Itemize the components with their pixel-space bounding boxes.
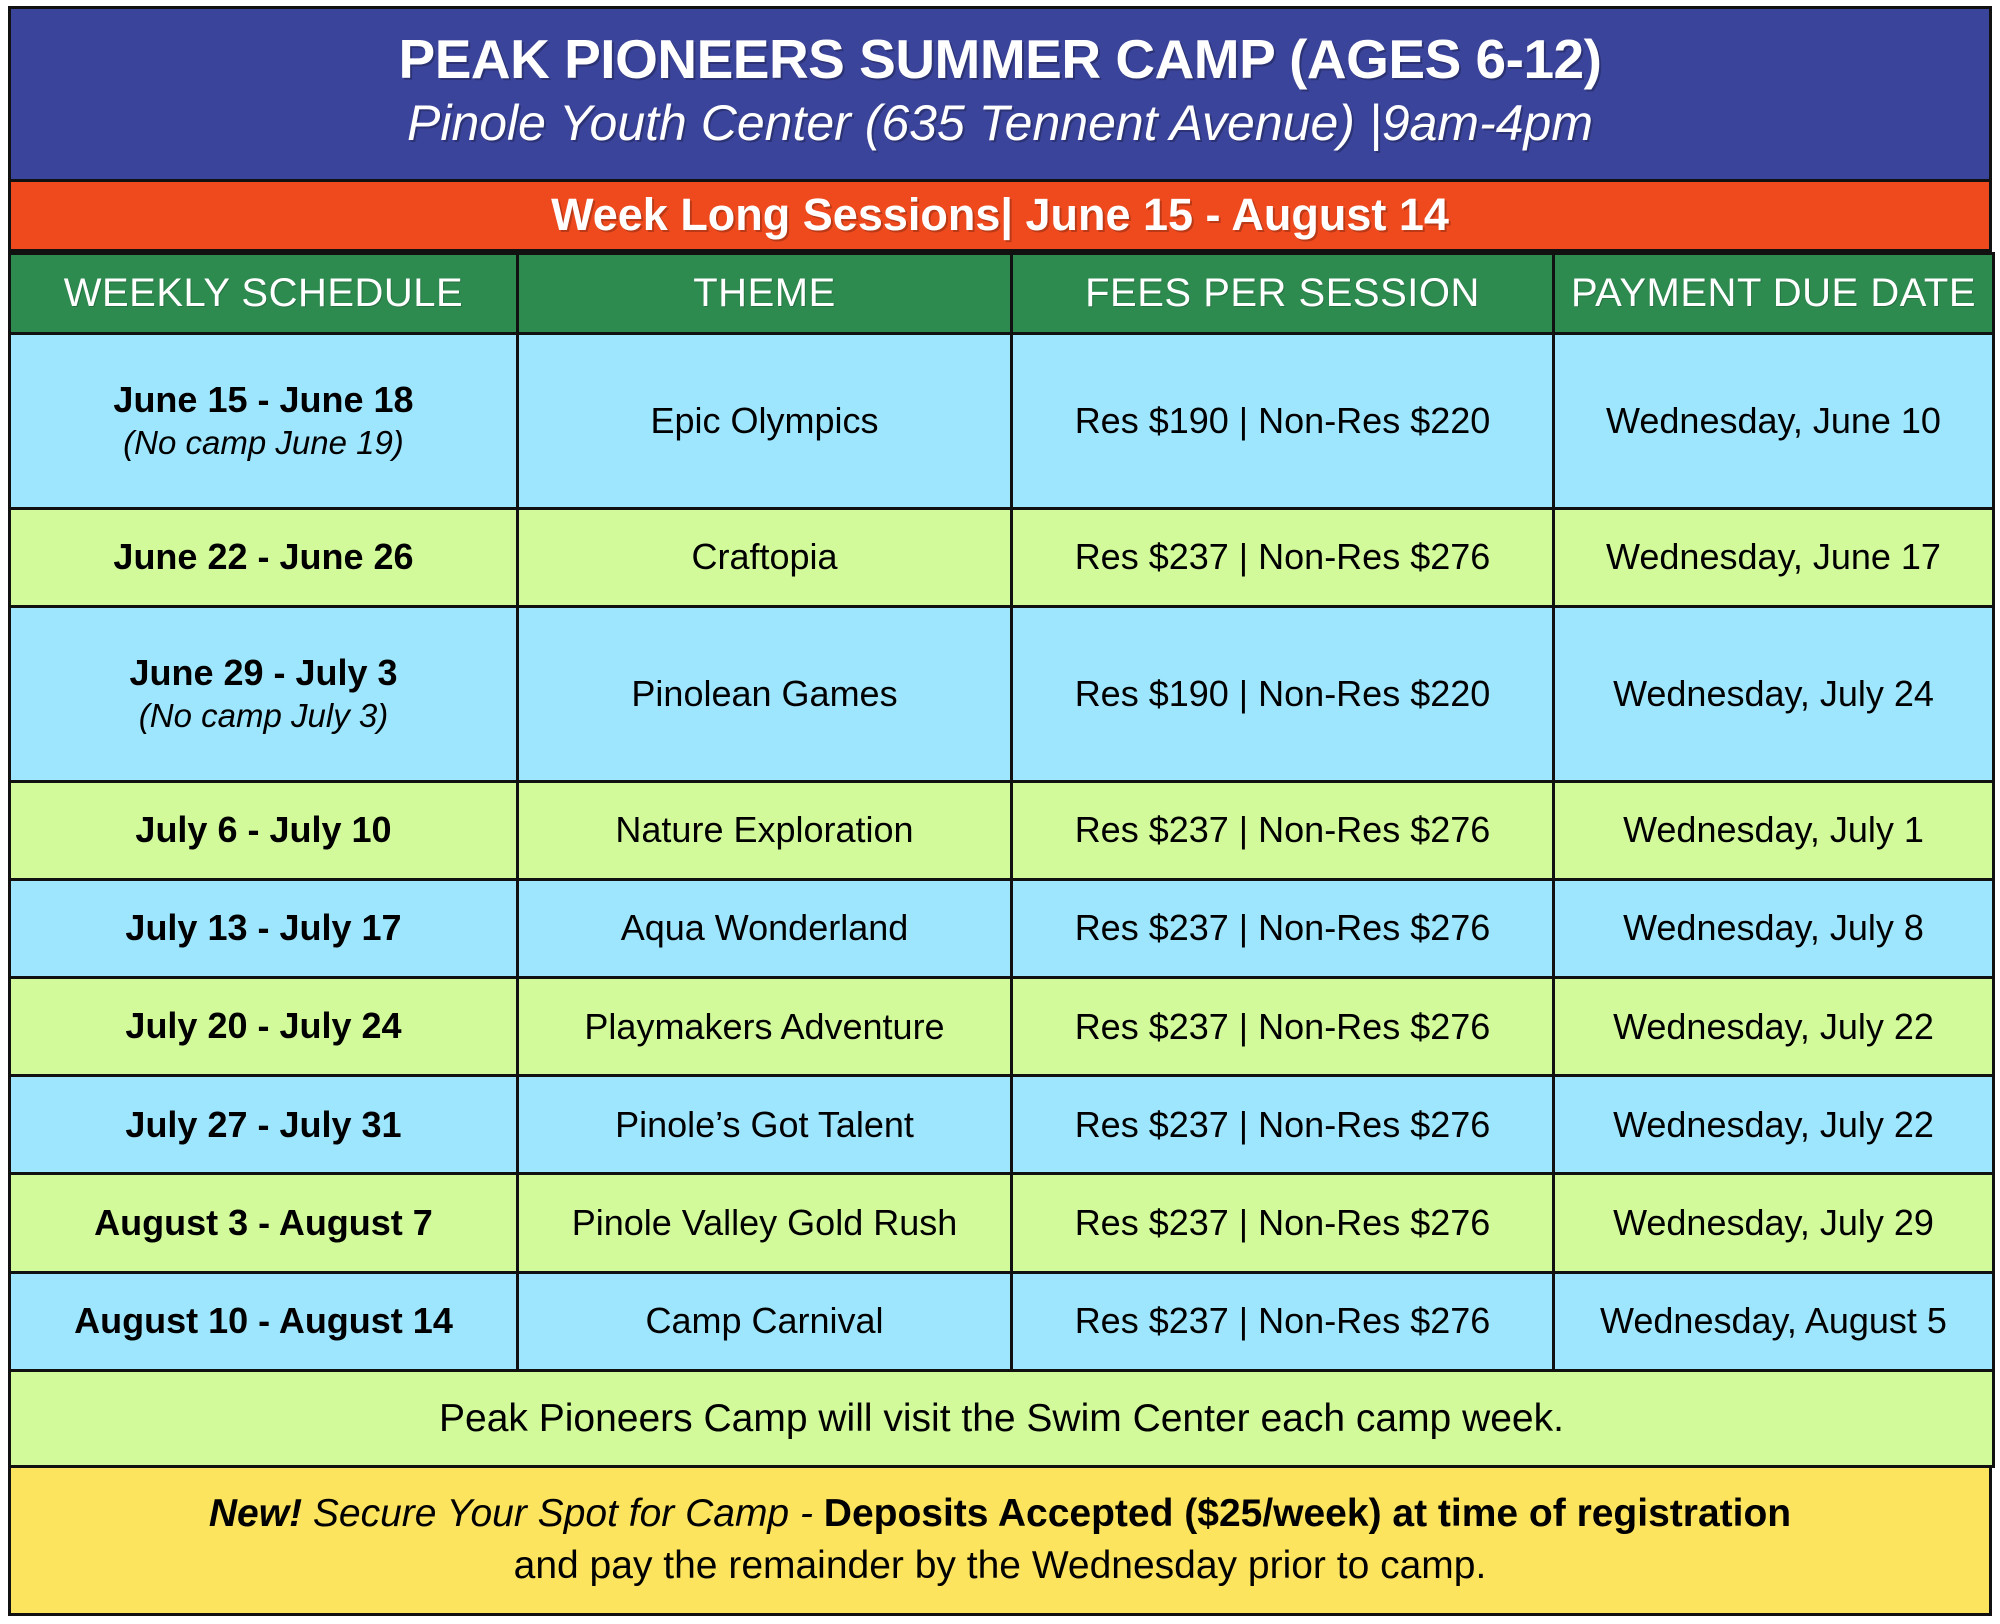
cell-payment-due: Wednesday, July 29 [1554, 1174, 1994, 1272]
footer-line-2: and pay the remainder by the Wednesday p… [514, 1542, 1487, 1591]
page-subtitle: Pinole Youth Center (635 Tennent Avenue)… [407, 95, 1593, 153]
schedule-note: (No camp June 19) [19, 423, 508, 463]
cell-weekly-schedule: July 6 - July 10 [10, 781, 518, 879]
cell-theme: Craftopia [518, 508, 1012, 606]
cell-weekly-schedule: June 29 - July 3 (No camp July 3) [10, 606, 518, 781]
cell-theme: Playmakers Adventure [518, 978, 1012, 1076]
table-row: July 27 - July 31 Pinole’s Got Talent Re… [10, 1076, 1994, 1174]
column-header-fees: FEES PER SESSION [1012, 254, 1554, 334]
cell-theme: Aqua Wonderland [518, 879, 1012, 977]
cell-payment-due: Wednesday, July 22 [1554, 978, 1994, 1076]
schedule-dates: June 15 - June 18 [113, 379, 413, 420]
cell-fees: Res $237 | Non-Res $276 [1012, 978, 1554, 1076]
schedule-note: (No camp July 3) [19, 696, 508, 736]
cell-weekly-schedule: July 20 - July 24 [10, 978, 518, 1076]
footer-secure-text: Secure Your Spot for Camp - [302, 1492, 824, 1535]
cell-theme: Pinolean Games [518, 606, 1012, 781]
camp-flyer: PEAK PIONEERS SUMMER CAMP (AGES 6-12) Pi… [0, 0, 2000, 1624]
cell-fees: Res $237 | Non-Res $276 [1012, 879, 1554, 977]
table-row: June 15 - June 18 (No camp June 19) Epic… [10, 334, 1994, 509]
cell-fees: Res $237 | Non-Res $276 [1012, 1174, 1554, 1272]
table-row: August 3 - August 7 Pinole Valley Gold R… [10, 1174, 1994, 1272]
cell-weekly-schedule: June 15 - June 18 (No camp June 19) [10, 334, 518, 509]
cell-theme: Nature Exploration [518, 781, 1012, 879]
title-band: PEAK PIONEERS SUMMER CAMP (AGES 6-12) Pi… [8, 6, 1992, 182]
schedule-dates: July 27 - July 31 [125, 1104, 401, 1145]
cell-payment-due: Wednesday, June 17 [1554, 508, 1994, 606]
cell-weekly-schedule: June 22 - June 26 [10, 508, 518, 606]
table-row: June 29 - July 3 (No camp July 3) Pinole… [10, 606, 1994, 781]
cell-payment-due: Wednesday, August 5 [1554, 1272, 1994, 1370]
table-row: June 22 - June 26 Craftopia Res $237 | N… [10, 508, 1994, 606]
schedule-dates: July 6 - July 10 [135, 809, 391, 850]
cell-payment-due: Wednesday, July 24 [1554, 606, 1994, 781]
table-header-row: WEEKLY SCHEDULE THEME FEES PER SESSION P… [10, 254, 1994, 334]
schedule-table: WEEKLY SCHEDULE THEME FEES PER SESSION P… [8, 252, 1995, 1468]
schedule-dates: August 10 - August 14 [74, 1300, 453, 1341]
cell-weekly-schedule: July 27 - July 31 [10, 1076, 518, 1174]
cell-fees: Res $190 | Non-Res $220 [1012, 334, 1554, 509]
schedule-dates: August 3 - August 7 [94, 1202, 433, 1243]
cell-weekly-schedule: August 3 - August 7 [10, 1174, 518, 1272]
table-row: July 6 - July 10 Nature Exploration Res … [10, 781, 1994, 879]
footer-new-label: New! [209, 1492, 302, 1535]
swim-note-row: Peak Pioneers Camp will visit the Swim C… [10, 1371, 1994, 1467]
cell-payment-due: Wednesday, July 1 [1554, 781, 1994, 879]
schedule-dates: July 13 - July 17 [125, 907, 401, 948]
table-row: July 13 - July 17 Aqua Wonderland Res $2… [10, 879, 1994, 977]
schedule-dates: July 20 - July 24 [125, 1005, 401, 1046]
cell-weekly-schedule: July 13 - July 17 [10, 879, 518, 977]
footer-line-1: New! Secure Your Spot for Camp - Deposit… [209, 1491, 1791, 1538]
cell-theme: Pinole’s Got Talent [518, 1076, 1012, 1174]
footer-deposit-text: Deposits Accepted ($25/week) at time of … [824, 1492, 1791, 1535]
cell-payment-due: Wednesday, June 10 [1554, 334, 1994, 509]
cell-fees: Res $237 | Non-Res $276 [1012, 1076, 1554, 1174]
page-title: PEAK PIONEERS SUMMER CAMP (AGES 6-12) [399, 29, 1602, 91]
column-header-weekly-schedule: WEEKLY SCHEDULE [10, 254, 518, 334]
cell-fees: Res $237 | Non-Res $276 [1012, 781, 1554, 879]
column-header-payment-due: PAYMENT DUE DATE [1554, 254, 1994, 334]
cell-fees: Res $190 | Non-Res $220 [1012, 606, 1554, 781]
schedule-dates: June 29 - July 3 [129, 652, 397, 693]
cell-theme: Pinole Valley Gold Rush [518, 1174, 1012, 1272]
table-row: July 20 - July 24 Playmakers Adventure R… [10, 978, 1994, 1076]
schedule-dates: June 22 - June 26 [113, 536, 413, 577]
cell-theme: Epic Olympics [518, 334, 1012, 509]
table-row: August 10 - August 14 Camp Carnival Res … [10, 1272, 1994, 1370]
footer-band: New! Secure Your Spot for Camp - Deposit… [8, 1468, 1992, 1616]
column-header-theme: THEME [518, 254, 1012, 334]
cell-fees: Res $237 | Non-Res $276 [1012, 1272, 1554, 1370]
cell-payment-due: Wednesday, July 8 [1554, 879, 1994, 977]
cell-payment-due: Wednesday, July 22 [1554, 1076, 1994, 1174]
cell-fees: Res $237 | Non-Res $276 [1012, 508, 1554, 606]
cell-theme: Camp Carnival [518, 1272, 1012, 1370]
swim-note: Peak Pioneers Camp will visit the Swim C… [10, 1371, 1994, 1467]
cell-weekly-schedule: August 10 - August 14 [10, 1272, 518, 1370]
sessions-banner: Week Long Sessions| June 15 - August 14 [8, 182, 1992, 252]
table-body: June 15 - June 18 (No camp June 19) Epic… [10, 334, 1994, 1467]
